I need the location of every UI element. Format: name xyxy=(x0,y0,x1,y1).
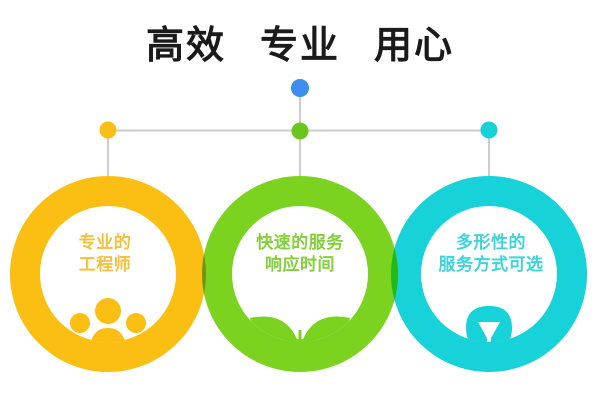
circle-label-flexible-line2: 服务方式可选 xyxy=(395,254,587,276)
infographic-canvas: 高效专业用心 xyxy=(0,0,600,420)
circle-label-response-line1: 快速的服务 xyxy=(256,233,344,253)
circle-label-engineers-line2: 工程师 xyxy=(22,254,188,276)
circle-label-flexible-line1: 多形性的 xyxy=(456,233,526,253)
overlap-green-cyan xyxy=(0,0,600,420)
circle-label-response-line2: 响应时间 xyxy=(207,254,393,276)
circle-label-flexible: 多形性的 服务方式可选 xyxy=(395,232,587,277)
circle-label-engineers: 专业的 工程师 xyxy=(22,232,188,277)
circle-label-engineers-line1: 专业的 xyxy=(79,233,132,253)
circle-label-response: 快速的服务 响应时间 xyxy=(207,232,393,277)
rings-group xyxy=(0,0,600,420)
